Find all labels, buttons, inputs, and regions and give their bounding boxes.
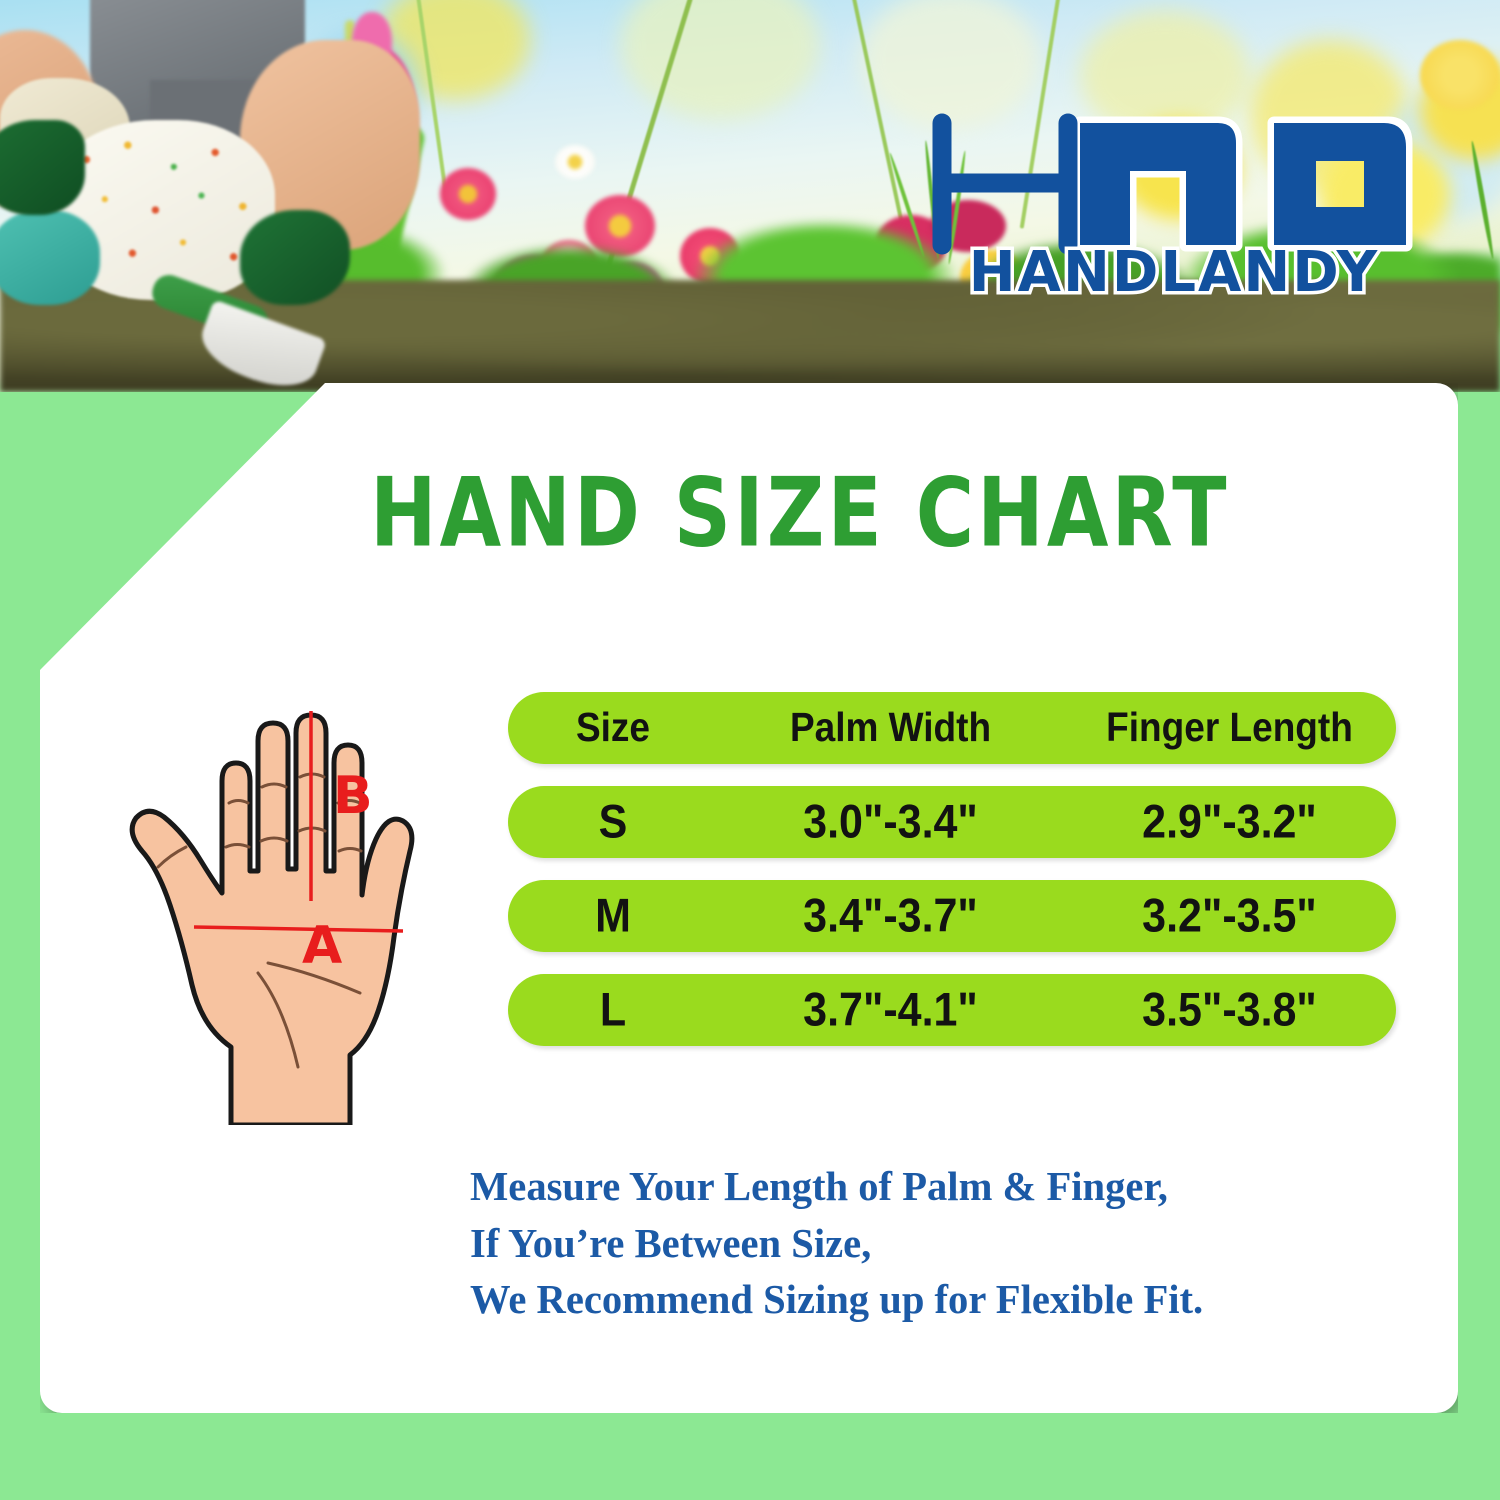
garden-photo-banner: HANDLANDY bbox=[0, 0, 1500, 392]
table-row: L 3.7"-4.1" 3.5"-3.8" bbox=[508, 974, 1396, 1046]
cell-size: S bbox=[508, 798, 718, 847]
cell-palm-width: 3.0"-3.4" bbox=[718, 798, 1063, 847]
table-header-cell-palm-width: Palm Width bbox=[718, 707, 1063, 749]
handlandy-logo: HANDLANDY bbox=[918, 95, 1430, 295]
value-finger-length: 3.5"-3.8" bbox=[1142, 983, 1317, 1037]
table-header-row: Size Palm Width Finger Length bbox=[508, 692, 1396, 764]
gardener-photo-subject bbox=[0, 0, 460, 392]
instruction-line-1: Measure Your Length of Palm & Finger, bbox=[470, 1158, 1203, 1215]
cell-palm-width: 3.4"-3.7" bbox=[718, 892, 1063, 941]
value-finger-length: 3.2"-3.5" bbox=[1142, 889, 1317, 943]
table-row: M 3.4"-3.7" 3.2"-3.5" bbox=[508, 880, 1396, 952]
value-finger-length: 2.9"-3.2" bbox=[1142, 795, 1317, 849]
value-palm-width: 3.4"-3.7" bbox=[803, 889, 978, 943]
value-palm-width: 3.0"-3.4" bbox=[803, 795, 978, 849]
value-palm-width: 3.7"-4.1" bbox=[803, 983, 978, 1037]
size-table: Size Palm Width Finger Length S 3.0"-3.4… bbox=[508, 692, 1396, 1046]
measurement-instructions: Measure Your Length of Palm & Finger, If… bbox=[470, 1158, 1211, 1328]
size-chart-page: HANDLANDY HAND SIZE CHART B bbox=[0, 0, 1500, 1500]
value-size: S bbox=[599, 795, 628, 849]
header-palm-width-label: Palm Width bbox=[790, 705, 991, 751]
table-row: S 3.0"-3.4" 2.9"-3.2" bbox=[508, 786, 1396, 858]
value-size: M bbox=[595, 889, 631, 943]
cell-palm-width: 3.7"-4.1" bbox=[718, 986, 1063, 1035]
table-header-cell-size: Size bbox=[508, 707, 718, 749]
logo-wordmark: HANDLANDY bbox=[969, 240, 1379, 295]
instruction-line-2: If You’re Between Size, bbox=[470, 1215, 1203, 1272]
hand-measurement-diagram: B A bbox=[98, 655, 498, 1125]
instruction-line-3: We Recommend Sizing up for Flexible Fit. bbox=[470, 1271, 1203, 1328]
header-finger-length-label: Finger Length bbox=[1106, 705, 1353, 751]
cell-size: L bbox=[508, 986, 718, 1035]
cell-size: M bbox=[508, 892, 718, 941]
table-header-cell-finger-length: Finger Length bbox=[1063, 707, 1396, 749]
value-size: L bbox=[600, 983, 626, 1037]
header-size-label: Size bbox=[576, 705, 650, 751]
cell-finger-length: 3.2"-3.5" bbox=[1063, 892, 1396, 941]
label-b: B bbox=[333, 766, 373, 826]
cell-finger-length: 3.5"-3.8" bbox=[1063, 986, 1396, 1035]
label-a: A bbox=[302, 916, 342, 976]
page-title: HAND SIZE CHART bbox=[370, 466, 1441, 561]
cell-finger-length: 2.9"-3.2" bbox=[1063, 798, 1396, 847]
